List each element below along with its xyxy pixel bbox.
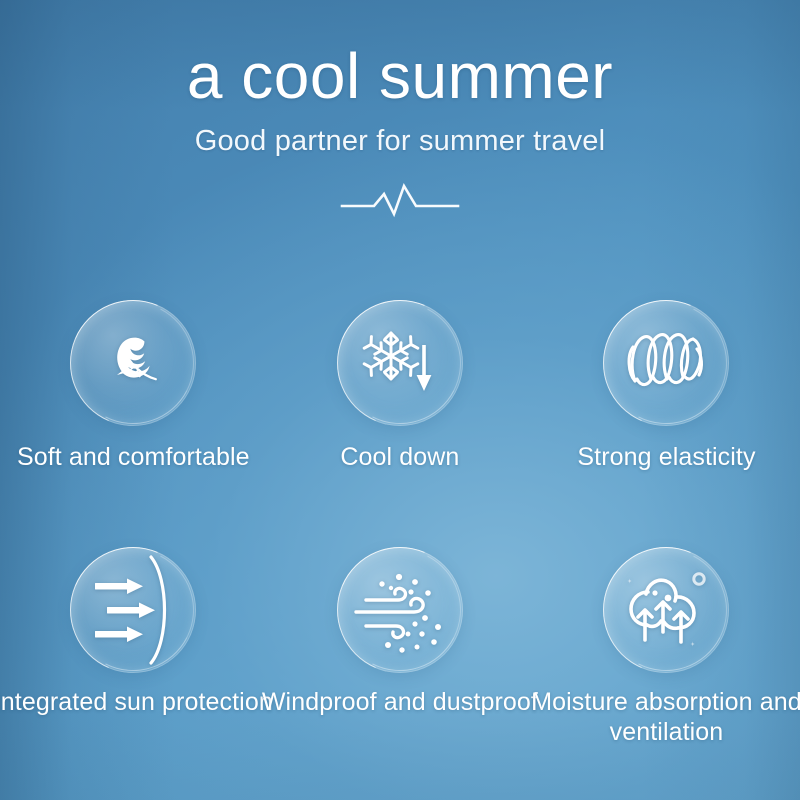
feature-item-moisture-absorption-and-ventilation[interactable]: Moisture absorption and ventilation (533, 547, 800, 748)
feature-label: Soft and comfortable (0, 442, 273, 473)
feature-row-1: Soft and comfortable (0, 300, 800, 473)
feature-label: Moisture absorption and ventilation (526, 687, 800, 748)
feature-item-windproof-and-dustproof[interactable]: Windproof and dustproof (267, 547, 534, 748)
pulse-line-divider-icon (340, 180, 460, 224)
feature-label: Integrated sun protection (0, 687, 273, 718)
feature-item-cool-down[interactable]: Cool down (267, 300, 534, 473)
sparkle-decorations (627, 578, 695, 646)
spring-coil-icon (623, 325, 709, 401)
feature-grid: Soft and comfortable (0, 300, 800, 748)
icon-bubble (70, 300, 196, 426)
snowflake-down-arrow-icon (360, 323, 440, 403)
arrow-right-3 (95, 626, 143, 642)
feature-item-integrated-sun-protection[interactable]: Integrated sun protection (0, 547, 267, 748)
promo-banner: a cool summer Good partner for summer tr… (0, 0, 800, 800)
page-subtitle: Good partner for summer travel (0, 111, 800, 158)
feature-item-strong-elasticity[interactable]: Strong elasticity (533, 300, 800, 473)
arrow-right-2 (107, 602, 155, 618)
feature-row-2: Integrated sun protection (0, 547, 800, 748)
icon-bubble (70, 547, 196, 673)
feature-label: Strong elasticity (526, 442, 800, 473)
page-title: a cool summer (0, 0, 800, 111)
wind-and-dust-icon (352, 564, 448, 656)
icon-bubble (603, 300, 729, 426)
up-arrows (638, 602, 688, 642)
feather-icon (97, 327, 169, 399)
arrows-blocked-by-shield-icon (87, 555, 179, 665)
down-arrow-glyph (416, 345, 431, 391)
icon-bubble (337, 547, 463, 673)
clouds-with-up-arrows-icon (618, 564, 714, 656)
feature-label: Windproof and dustproof (260, 687, 540, 718)
arrow-right-1 (95, 578, 143, 594)
icon-bubble (603, 547, 729, 673)
feature-item-soft-and-comfortable[interactable]: Soft and comfortable (0, 300, 267, 473)
moisture-dots (653, 590, 672, 601)
ring-decoration (694, 573, 704, 583)
feature-label: Cool down (260, 442, 540, 473)
icon-bubble (337, 300, 463, 426)
header: a cool summer Good partner for summer tr… (0, 0, 800, 229)
